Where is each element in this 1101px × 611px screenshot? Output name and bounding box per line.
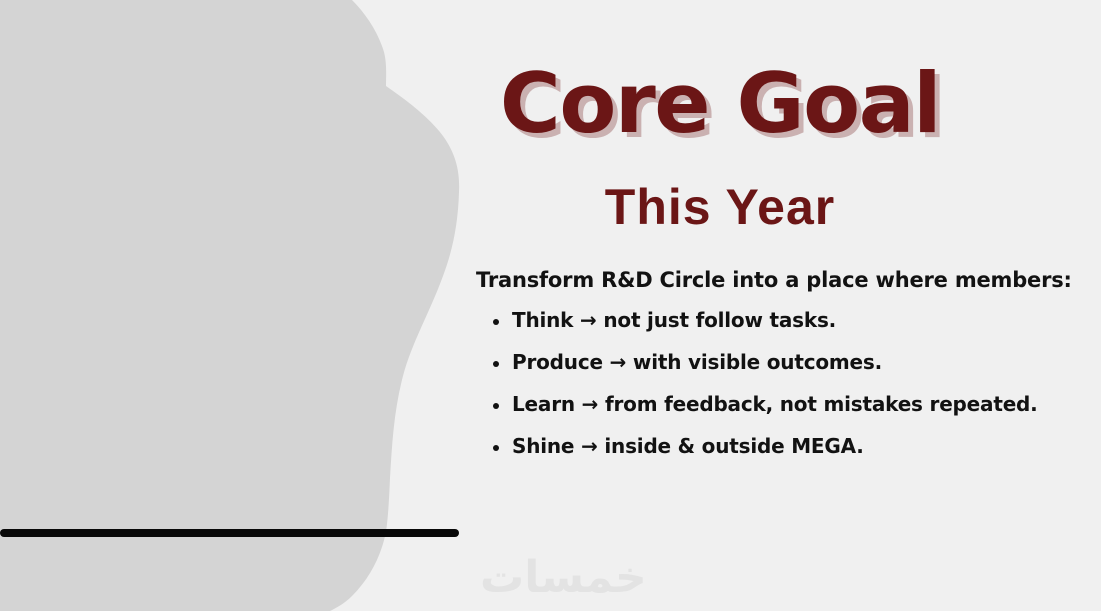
- goal-bullet-list: Think → not just follow tasks. Produce →…: [490, 310, 1038, 478]
- page-title: Core Goal: [470, 62, 970, 145]
- bullet-dot-icon: [493, 319, 499, 325]
- lead-paragraph: Transform R&D Circle into a place where …: [476, 268, 1072, 292]
- list-item: Shine → inside & outside MEGA.: [490, 436, 1038, 457]
- list-item: Produce → with visible outcomes.: [490, 352, 1038, 373]
- list-item-label: Learn → from feedback, not mistakes repe…: [512, 392, 1038, 416]
- list-item: Think → not just follow tasks.: [490, 310, 1038, 331]
- list-item-label: Shine → inside & outside MEGA.: [512, 434, 864, 458]
- bullet-dot-icon: [493, 361, 499, 367]
- bullet-dot-icon: [493, 445, 499, 451]
- accent-rule-bar: [0, 529, 459, 537]
- bullet-dot-icon: [493, 403, 499, 409]
- watermark-khamsat: خمسات: [480, 552, 647, 603]
- slide-canvas: Core Goal This Year Transform R&D Circle…: [0, 0, 1101, 611]
- page-subtitle: This Year: [470, 182, 970, 232]
- list-item-label: Think → not just follow tasks.: [512, 308, 836, 332]
- list-item: Learn → from feedback, not mistakes repe…: [490, 394, 1038, 415]
- content-column: Core Goal This Year Transform R&D Circle…: [470, 0, 1090, 611]
- list-item-label: Produce → with visible outcomes.: [512, 350, 882, 374]
